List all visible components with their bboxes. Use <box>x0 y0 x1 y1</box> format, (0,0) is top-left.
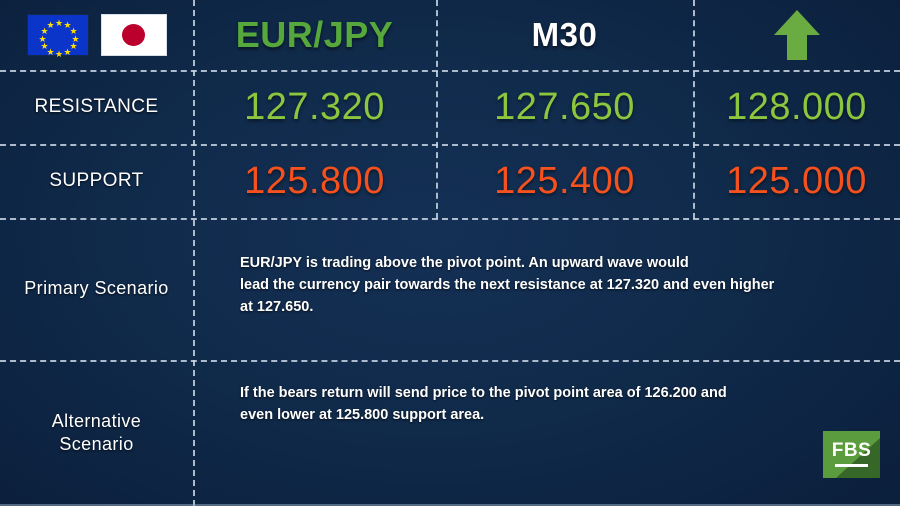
primary-scenario-line-1: EUR/JPY is trading above the pivot point… <box>240 252 875 274</box>
resistance-value-3-cell: 128.000 <box>693 70 900 144</box>
fbs-logo: FBS <box>823 431 880 478</box>
resistance-value-2: 127.650 <box>494 86 635 129</box>
support-label: SUPPORT <box>49 169 143 193</box>
support-value-2: 125.400 <box>494 160 635 203</box>
support-value-1: 125.800 <box>244 160 385 203</box>
resistance-label-cell: RESISTANCE <box>0 70 193 144</box>
support-value-3-cell: 125.000 <box>693 144 900 218</box>
primary-scenario-line-2: lead the currency pair towards the next … <box>240 274 875 296</box>
fbs-logo-bar <box>835 464 868 467</box>
resistance-value-2-cell: 127.650 <box>436 70 693 144</box>
primary-scenario-text: EUR/JPY is trading above the pivot point… <box>240 252 875 318</box>
japan-flag-disc <box>122 24 145 46</box>
forex-signal-card: ★ ★ ★ ★ ★ ★ ★ ★ ★ ★ ★ ★ EUR/JPY M30 RESI… <box>0 0 900 506</box>
up-arrow-icon <box>774 10 820 60</box>
currency-pair-cell: EUR/JPY <box>193 0 436 70</box>
fbs-logo-text: FBS <box>823 440 880 462</box>
resistance-value-1-cell: 127.320 <box>193 70 436 144</box>
alternative-scenario-line-1: If the bears return will send price to t… <box>240 382 875 404</box>
eu-flag-icon: ★ ★ ★ ★ ★ ★ ★ ★ ★ ★ ★ ★ <box>27 14 89 56</box>
alternative-scenario-label-line-2: Scenario <box>59 434 133 454</box>
alternative-scenario-label-cell: Alternative Scenario <box>0 360 193 506</box>
flags-cell: ★ ★ ★ ★ ★ ★ ★ ★ ★ ★ ★ ★ <box>0 0 193 70</box>
resistance-label: RESISTANCE <box>34 95 158 119</box>
primary-scenario-label-cell: Primary Scenario <box>0 218 193 360</box>
alternative-scenario-label: Alternative Scenario <box>52 410 141 456</box>
japan-flag-icon <box>101 14 167 56</box>
support-value-1-cell: 125.800 <box>193 144 436 218</box>
resistance-value-3: 128.000 <box>726 86 867 129</box>
timeframe-title: M30 <box>532 16 598 54</box>
trend-cell <box>693 0 900 70</box>
primary-scenario-line-3: at 127.650. <box>240 296 875 318</box>
alternative-scenario-line-2: even lower at 125.800 support area. <box>240 404 875 426</box>
alternative-scenario-label-line-1: Alternative <box>52 411 141 431</box>
resistance-value-1: 127.320 <box>244 86 385 129</box>
currency-pair-title: EUR/JPY <box>236 14 394 56</box>
support-value-3: 125.000 <box>726 160 867 203</box>
support-value-2-cell: 125.400 <box>436 144 693 218</box>
support-label-cell: SUPPORT <box>0 144 193 218</box>
timeframe-cell: M30 <box>436 0 693 70</box>
alternative-scenario-text: If the bears return will send price to t… <box>240 382 875 426</box>
primary-scenario-label: Primary Scenario <box>24 277 168 300</box>
